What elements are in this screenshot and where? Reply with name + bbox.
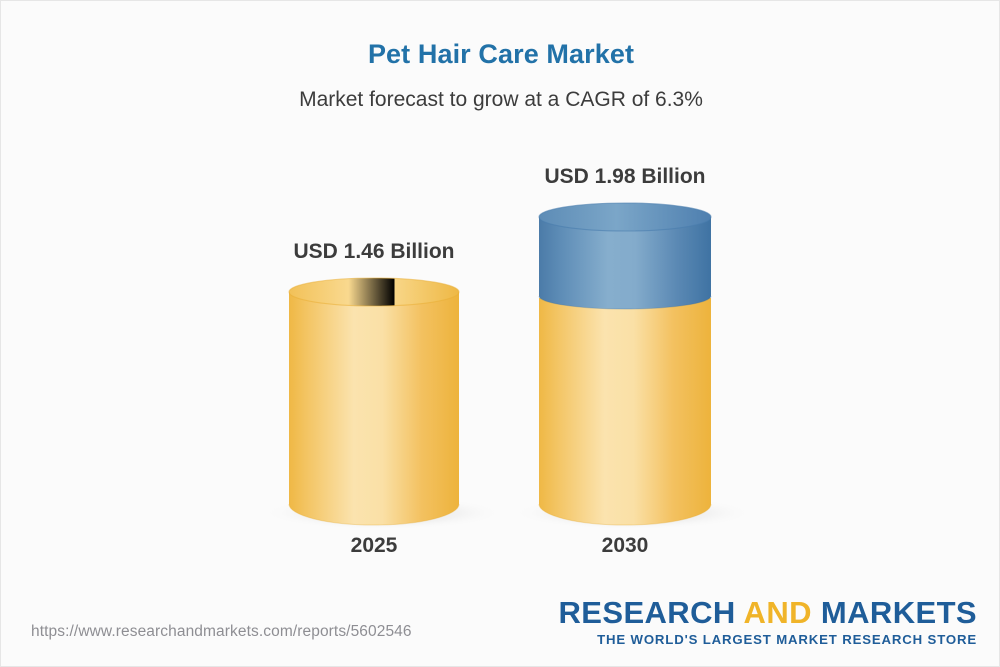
bar-2025-body [289, 292, 459, 525]
brand-logo[interactable]: RESEARCH AND MARKETS THE WORLD'S LARGEST… [559, 597, 978, 646]
value-label-2030: USD 1.98 Billion [515, 165, 735, 189]
logo-markets-text: MARKETS [812, 595, 977, 630]
chart-canvas: Pet Hair Care Market Market forecast to … [0, 0, 1000, 667]
bar-2030[interactable] [539, 203, 711, 525]
logo-tagline: THE WORLD'S LARGEST MARKET RESEARCH STOR… [559, 633, 978, 646]
value-label-2025: USD 1.46 Billion [264, 240, 484, 264]
category-label-2025: 2025 [284, 534, 464, 558]
bar-2030-body-base [539, 298, 711, 525]
bar-2025[interactable] [289, 278, 459, 525]
chart-plot-area [1, 1, 1000, 667]
category-label-2030: 2030 [535, 534, 715, 558]
logo-wordmark: RESEARCH AND MARKETS [559, 597, 978, 628]
logo-and-text: AND [744, 595, 812, 630]
report-url[interactable]: https://www.researchandmarkets.com/repor… [31, 623, 412, 641]
logo-research-text: RESEARCH [559, 595, 744, 630]
